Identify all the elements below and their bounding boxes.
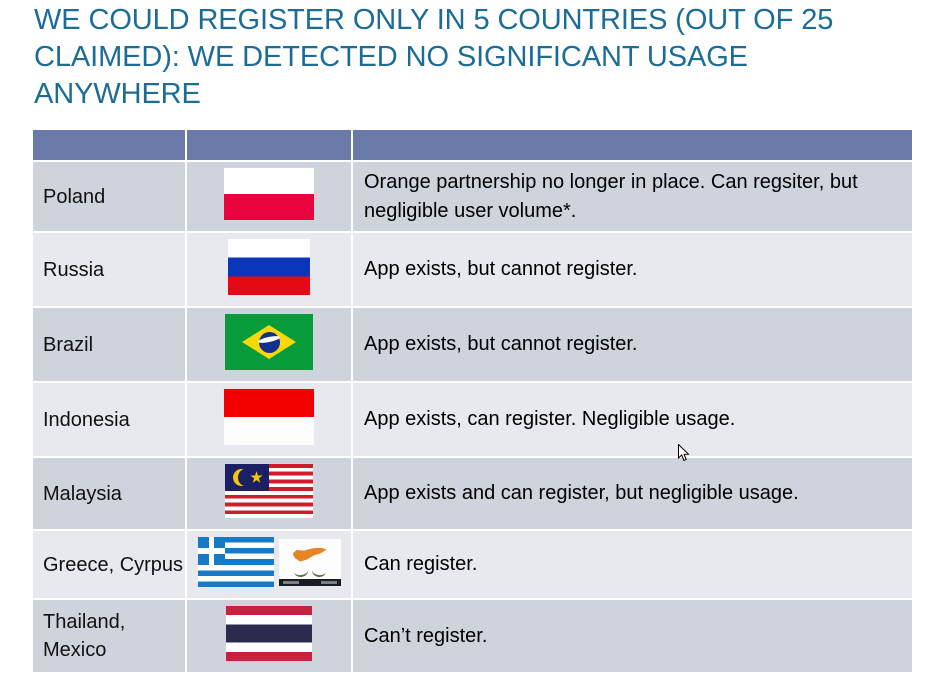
table-row: Brazil App exists, but cannot register. xyxy=(33,307,912,382)
status-note-cell: App exists, but cannot register. xyxy=(352,232,912,307)
country-name-cell: Thailand, Mexico xyxy=(33,599,186,673)
status-note-cell: Can register. xyxy=(352,530,912,599)
malaysia-flag-icon xyxy=(225,464,313,518)
country-name-cell: Brazil xyxy=(33,307,186,382)
header-cell-flag xyxy=(186,130,352,161)
thailand-flag-icon xyxy=(226,606,312,661)
malaysia-crescent-cut-shape xyxy=(238,469,253,486)
flag-cell xyxy=(186,530,352,599)
greece-cross-horizontal-shape xyxy=(198,548,226,554)
country-status-table: Poland Orange partnership no longer in p… xyxy=(33,130,912,674)
flag-cell xyxy=(186,457,352,530)
cyprus-olive-branch-right-shape xyxy=(311,564,327,578)
country-name-cell: Greece, Cyrpus xyxy=(33,530,186,599)
indonesia-flag-icon xyxy=(224,389,314,445)
table-header-row xyxy=(33,130,912,161)
header-cell-note xyxy=(352,130,912,161)
cyprus-thumbnail-bar xyxy=(279,579,341,586)
russia-flag-icon xyxy=(228,239,310,295)
brazil-flag-icon xyxy=(225,314,313,370)
status-note-cell: App exists, but cannot register. xyxy=(352,307,912,382)
table-row: Thailand, Mexico Can’t register. xyxy=(33,599,912,673)
status-note-cell: App exists, can register. Negligible usa… xyxy=(352,382,912,457)
status-note-cell: App exists and can register, but negligi… xyxy=(352,457,912,530)
country-name-cell: Russia xyxy=(33,232,186,307)
flag-cell xyxy=(186,307,352,382)
status-note-cell: Can’t register. xyxy=(352,599,912,673)
table-row: Russia App exists, but cannot register. xyxy=(33,232,912,307)
page-title: WE COULD REGISTER ONLY IN 5 COUNTRIES (O… xyxy=(34,2,884,113)
cyprus-olive-branch-left-shape xyxy=(293,564,309,578)
flag-cell xyxy=(186,599,352,673)
country-name-cell: Poland xyxy=(33,161,186,232)
table-row: Greece, Cyrpus Can register xyxy=(33,530,912,599)
flag-cell xyxy=(186,232,352,307)
status-note-cell: Orange partnership no longer in place. C… xyxy=(352,161,912,232)
table-row: Poland Orange partnership no longer in p… xyxy=(33,161,912,232)
table-row: Malaysia App exists and can register, bu… xyxy=(33,457,912,530)
poland-flag-icon xyxy=(224,168,314,220)
table-row: Indonesia App exists, can register. Negl… xyxy=(33,382,912,457)
flag-cell xyxy=(186,161,352,232)
cyprus-island-shape xyxy=(293,548,327,562)
cyprus-flag-icon xyxy=(279,539,341,586)
header-cell-country xyxy=(33,130,186,161)
flag-cell xyxy=(186,382,352,457)
country-name-cell: Indonesia xyxy=(33,382,186,457)
country-name-cell: Malaysia xyxy=(33,457,186,530)
greece-flag-icon xyxy=(198,537,274,587)
